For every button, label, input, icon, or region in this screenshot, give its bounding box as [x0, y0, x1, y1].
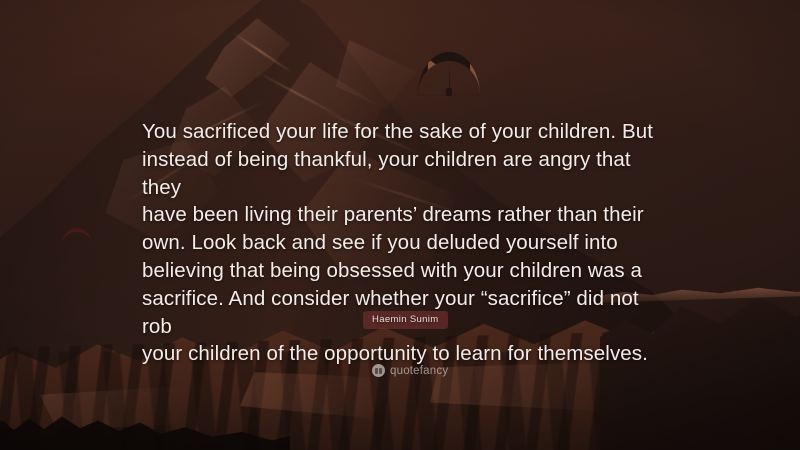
quote-line: You sacrificed your life for the sake of… [142, 118, 662, 146]
quote-mark-badge-icon [372, 364, 385, 377]
quote-line: own. Look back and see if you deluded yo… [142, 229, 662, 257]
quote-line: have been living their parents’ dreams r… [142, 201, 662, 229]
quote-line: believing that being obsessed with your … [142, 257, 662, 285]
watermark-brand-label: quotefancy [390, 365, 448, 377]
author-badge[interactable]: Haemin Sunim [363, 311, 448, 329]
quote-text: You sacrificed your life for the sake of… [142, 118, 662, 368]
quote-line: instead of being thankful, your children… [142, 146, 662, 202]
quotefancy-watermark[interactable]: quotefancy [372, 364, 448, 377]
quote-poster: You sacrificed your life for the sake of… [0, 0, 800, 450]
